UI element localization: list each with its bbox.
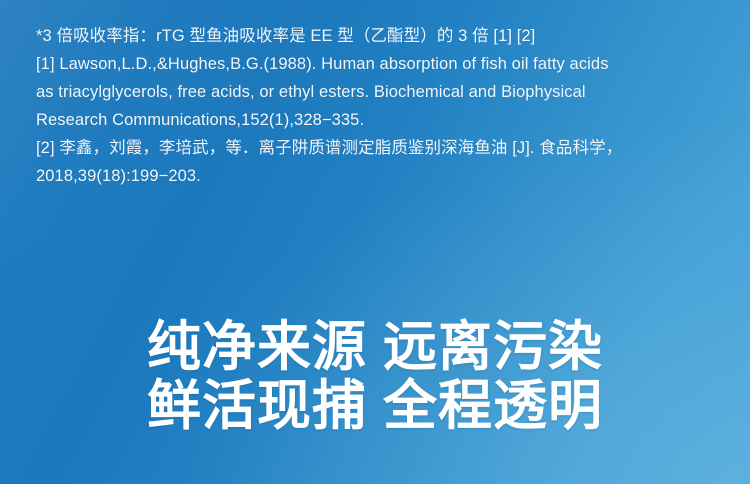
reference-line: Research Communications,152(1),328−335.	[36, 106, 736, 134]
reference-footnote-block: *3 倍吸收率指：rTG 型鱼油吸收率是 EE 型（乙酯型）的 3 倍 [1] …	[36, 22, 736, 190]
reference-line: [1] Lawson,L.D.,&Hughes,B.G.(1988). Huma…	[36, 50, 736, 78]
reference-line: as triacylglycerols, free acids, or ethy…	[36, 78, 736, 106]
headline-block: 纯净来源 远离污染 鲜活现捕 全程透明	[0, 318, 750, 436]
headline-line-primary: 纯净来源 远离污染	[0, 318, 750, 377]
reference-line: [2] 李鑫，刘霞，李培武，等．离子阱质谱测定脂质鉴别深海鱼油 [J]. 食品科…	[36, 134, 736, 162]
reference-line: *3 倍吸收率指：rTG 型鱼油吸收率是 EE 型（乙酯型）的 3 倍 [1] …	[36, 22, 736, 50]
promo-banner: *3 倍吸收率指：rTG 型鱼油吸收率是 EE 型（乙酯型）的 3 倍 [1] …	[0, 0, 750, 484]
headline-line-secondary: 鲜活现捕 全程透明	[0, 377, 750, 436]
reference-line: 2018,39(18):199−203.	[36, 162, 736, 190]
